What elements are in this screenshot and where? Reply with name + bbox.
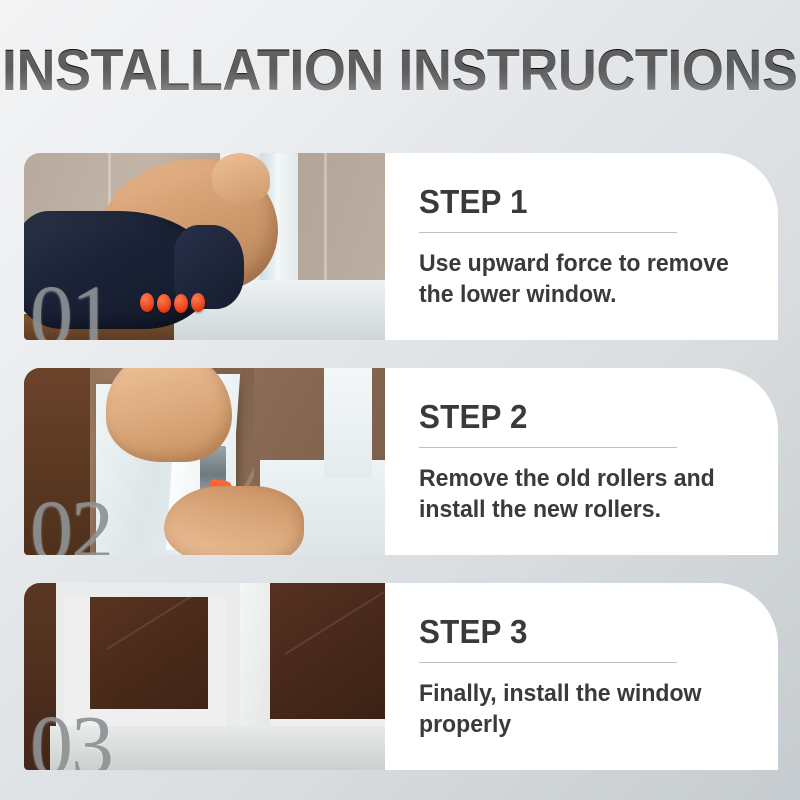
step-1-card: STEP 1 Use upward force to remove the lo…: [385, 153, 778, 340]
step-1-heading: STEP 1: [419, 183, 728, 221]
photo-1-cuff-button: [174, 294, 188, 313]
step-1-description: Use upward force to remove the lower win…: [419, 248, 731, 310]
photo-1-cuff-button: [140, 293, 154, 312]
photo-3-scene: [24, 583, 385, 770]
page-header: INSTALLATION INSTRUCTIONS: [0, 30, 800, 110]
page-title: INSTALLATION INSTRUCTIONS: [2, 37, 797, 104]
photo-1-scene: [24, 153, 385, 340]
step-3-description: Finally, install the window properly: [419, 678, 731, 740]
step-2-divider: [419, 447, 677, 448]
step-1-divider: [419, 232, 677, 233]
step-row-3: 03 STEP 3 Finally, install the window pr…: [24, 583, 778, 770]
step-2-description: Remove the old rollers and install the n…: [419, 463, 731, 525]
photo-2-wood-edge: [24, 368, 90, 555]
photo-1-cuff-button: [157, 294, 171, 313]
step-3-card: STEP 3 Finally, install the window prope…: [385, 583, 778, 770]
step-2-photo: 02: [24, 368, 385, 555]
step-3-photo: 03: [24, 583, 385, 770]
step-row-1: 01 STEP 1 Use upward force to remove the…: [24, 153, 778, 340]
photo-1-cuff-button: [191, 293, 205, 312]
step-3-heading: STEP 3: [419, 613, 728, 651]
step-2-heading: STEP 2: [419, 398, 728, 436]
photo-2-scene: [24, 368, 385, 555]
step-2-card: STEP 2 Remove the old rollers and instal…: [385, 368, 778, 555]
step-1-photo: 01: [24, 153, 385, 340]
photo-2-lower-hand: [164, 486, 304, 555]
photo-2-upper-hand: [106, 368, 232, 462]
photo-3-sill: [50, 726, 385, 770]
step-3-divider: [419, 662, 677, 663]
step-row-2: 02 STEP 2 Remove the old rollers and ins…: [24, 368, 778, 555]
photo-1-thumb: [212, 153, 270, 203]
photo-2-white-panel: [324, 368, 372, 478]
